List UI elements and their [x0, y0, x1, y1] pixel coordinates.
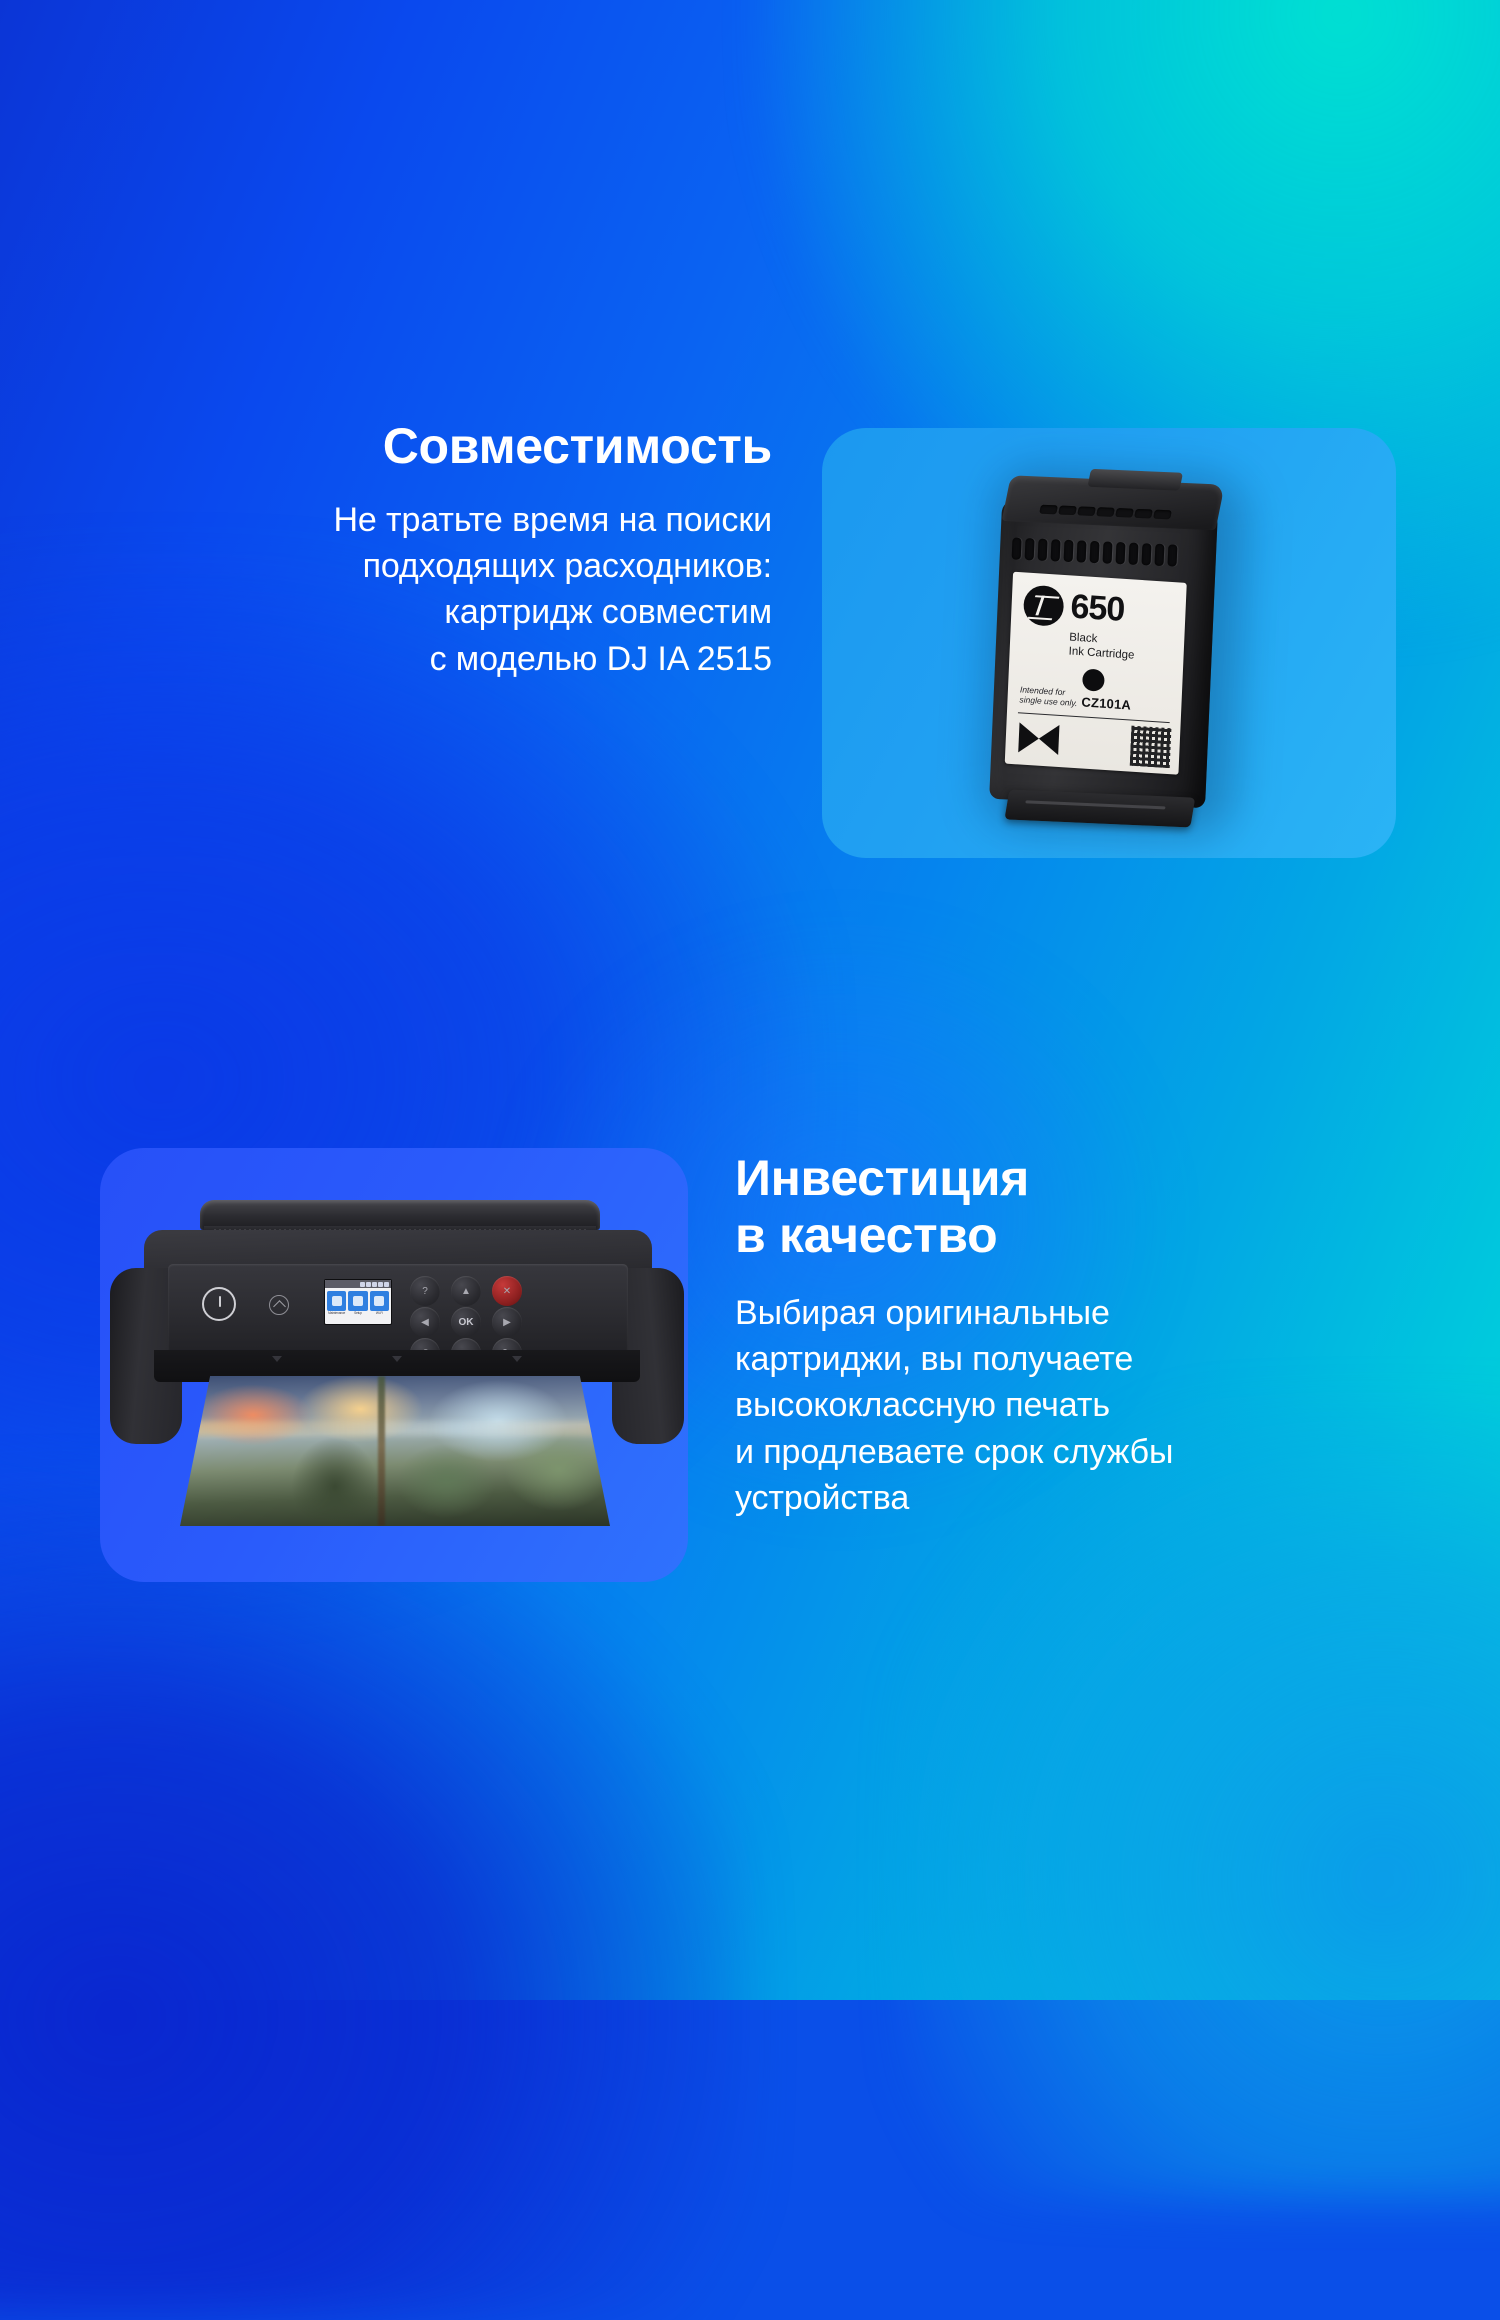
lcd-tile-wifi[interactable]: Wi-Fi — [370, 1291, 389, 1315]
compatibility-body-line: с моделью DJ IA 2515 — [0, 636, 772, 682]
lcd-tile-label: Maintenance — [327, 1312, 346, 1315]
compatibility-text-block: Совместимость Не тратьте время на поиски… — [0, 418, 772, 682]
left-key[interactable]: ◀ — [410, 1307, 440, 1337]
cartridge-label-top-row: 650 — [1023, 584, 1175, 634]
quality-heading-line: в качество — [735, 1207, 1455, 1264]
cartridge-label: 650 Black Ink Cartridge Intended for sin… — [1005, 572, 1187, 775]
maintenance-icon — [327, 1291, 346, 1311]
cartridge-model-number: 650 — [1070, 592, 1125, 627]
lcd-tile-label: Wi-Fi — [370, 1312, 389, 1315]
quality-body-line: картриджи, вы получаете — [735, 1336, 1455, 1382]
compatibility-body-line: Не тратьте время на поиски — [0, 497, 772, 543]
quality-body-line: устройства — [735, 1475, 1455, 1521]
printed-photo — [180, 1376, 610, 1526]
lcd-tile-maintenance[interactable]: Maintenance — [327, 1291, 346, 1315]
photo-tree — [378, 1376, 385, 1526]
quality-text-block: Инвестиция в качество Выбирая оригинальн… — [735, 1150, 1455, 1521]
quality-body-line: высококлассную печать — [735, 1382, 1455, 1428]
up-key[interactable]: ▲ — [451, 1276, 481, 1306]
help-key[interactable]: ? — [410, 1276, 440, 1306]
printer-image: Maintenance Setup Wi-Fi ? ▲ ✕ ◀ OK ▶ ↶ ▼ — [100, 1200, 688, 1582]
ok-key[interactable]: OK — [451, 1307, 481, 1337]
quality-heading: Инвестиция в качество — [735, 1150, 1455, 1264]
datamatrix-code-icon — [1130, 726, 1172, 769]
background-blob-deep-blue — [0, 1480, 750, 2320]
cartridge-type-text: Black Ink Cartridge — [1068, 631, 1173, 665]
cartridge-black-ink-dot-icon — [1082, 668, 1105, 691]
home-icon[interactable] — [269, 1295, 289, 1315]
printer-lcd-screen[interactable]: Maintenance Setup Wi-Fi — [324, 1279, 392, 1325]
compatibility-body-line: подходящих расходников: — [0, 543, 772, 589]
wifi-icon — [370, 1291, 389, 1311]
gear-icon — [348, 1291, 367, 1311]
cartridge-part-number: CZ101A — [1081, 694, 1131, 712]
lcd-status-bar — [325, 1280, 391, 1288]
compatibility-body-line: картридж совместим — [0, 589, 772, 635]
lcd-tile-setup[interactable]: Setup — [348, 1291, 367, 1315]
cartridge-label-divider — [1018, 712, 1170, 723]
background-gradient — [0, 0, 1500, 2000]
quality-heading-line: Инвестиция — [735, 1150, 1455, 1207]
lcd-tile-label: Setup — [348, 1312, 367, 1315]
compatibility-body: Не тратьте время на поиски подходящих ра… — [0, 497, 772, 682]
hp-logo-icon — [1023, 584, 1065, 627]
cartridge-image: 650 Black Ink Cartridge Intended for sin… — [966, 444, 1263, 846]
compatibility-heading: Совместимость — [0, 418, 772, 475]
printer-card: Maintenance Setup Wi-Fi ? ▲ ✕ ◀ OK ▶ ↶ ▼ — [100, 1148, 688, 1582]
cartridge-notice: Intended for single use only. — [1019, 684, 1078, 708]
quality-body: Выбирая оригинальные картриджи, вы получ… — [735, 1290, 1455, 1521]
photo-sunset-band — [180, 1421, 610, 1436]
power-icon[interactable] — [202, 1287, 236, 1321]
quality-body-line: и продлеваете срок службы — [735, 1429, 1455, 1475]
hourglass-icon — [1018, 722, 1059, 755]
cartridge-card: 650 Black Ink Cartridge Intended for sin… — [822, 428, 1396, 858]
right-key[interactable]: ▶ — [492, 1307, 522, 1337]
lcd-menu-tiles: Maintenance Setup Wi-Fi — [325, 1288, 391, 1316]
stop-key[interactable]: ✕ — [492, 1276, 522, 1306]
quality-body-line: Выбирая оригинальные — [735, 1290, 1455, 1336]
